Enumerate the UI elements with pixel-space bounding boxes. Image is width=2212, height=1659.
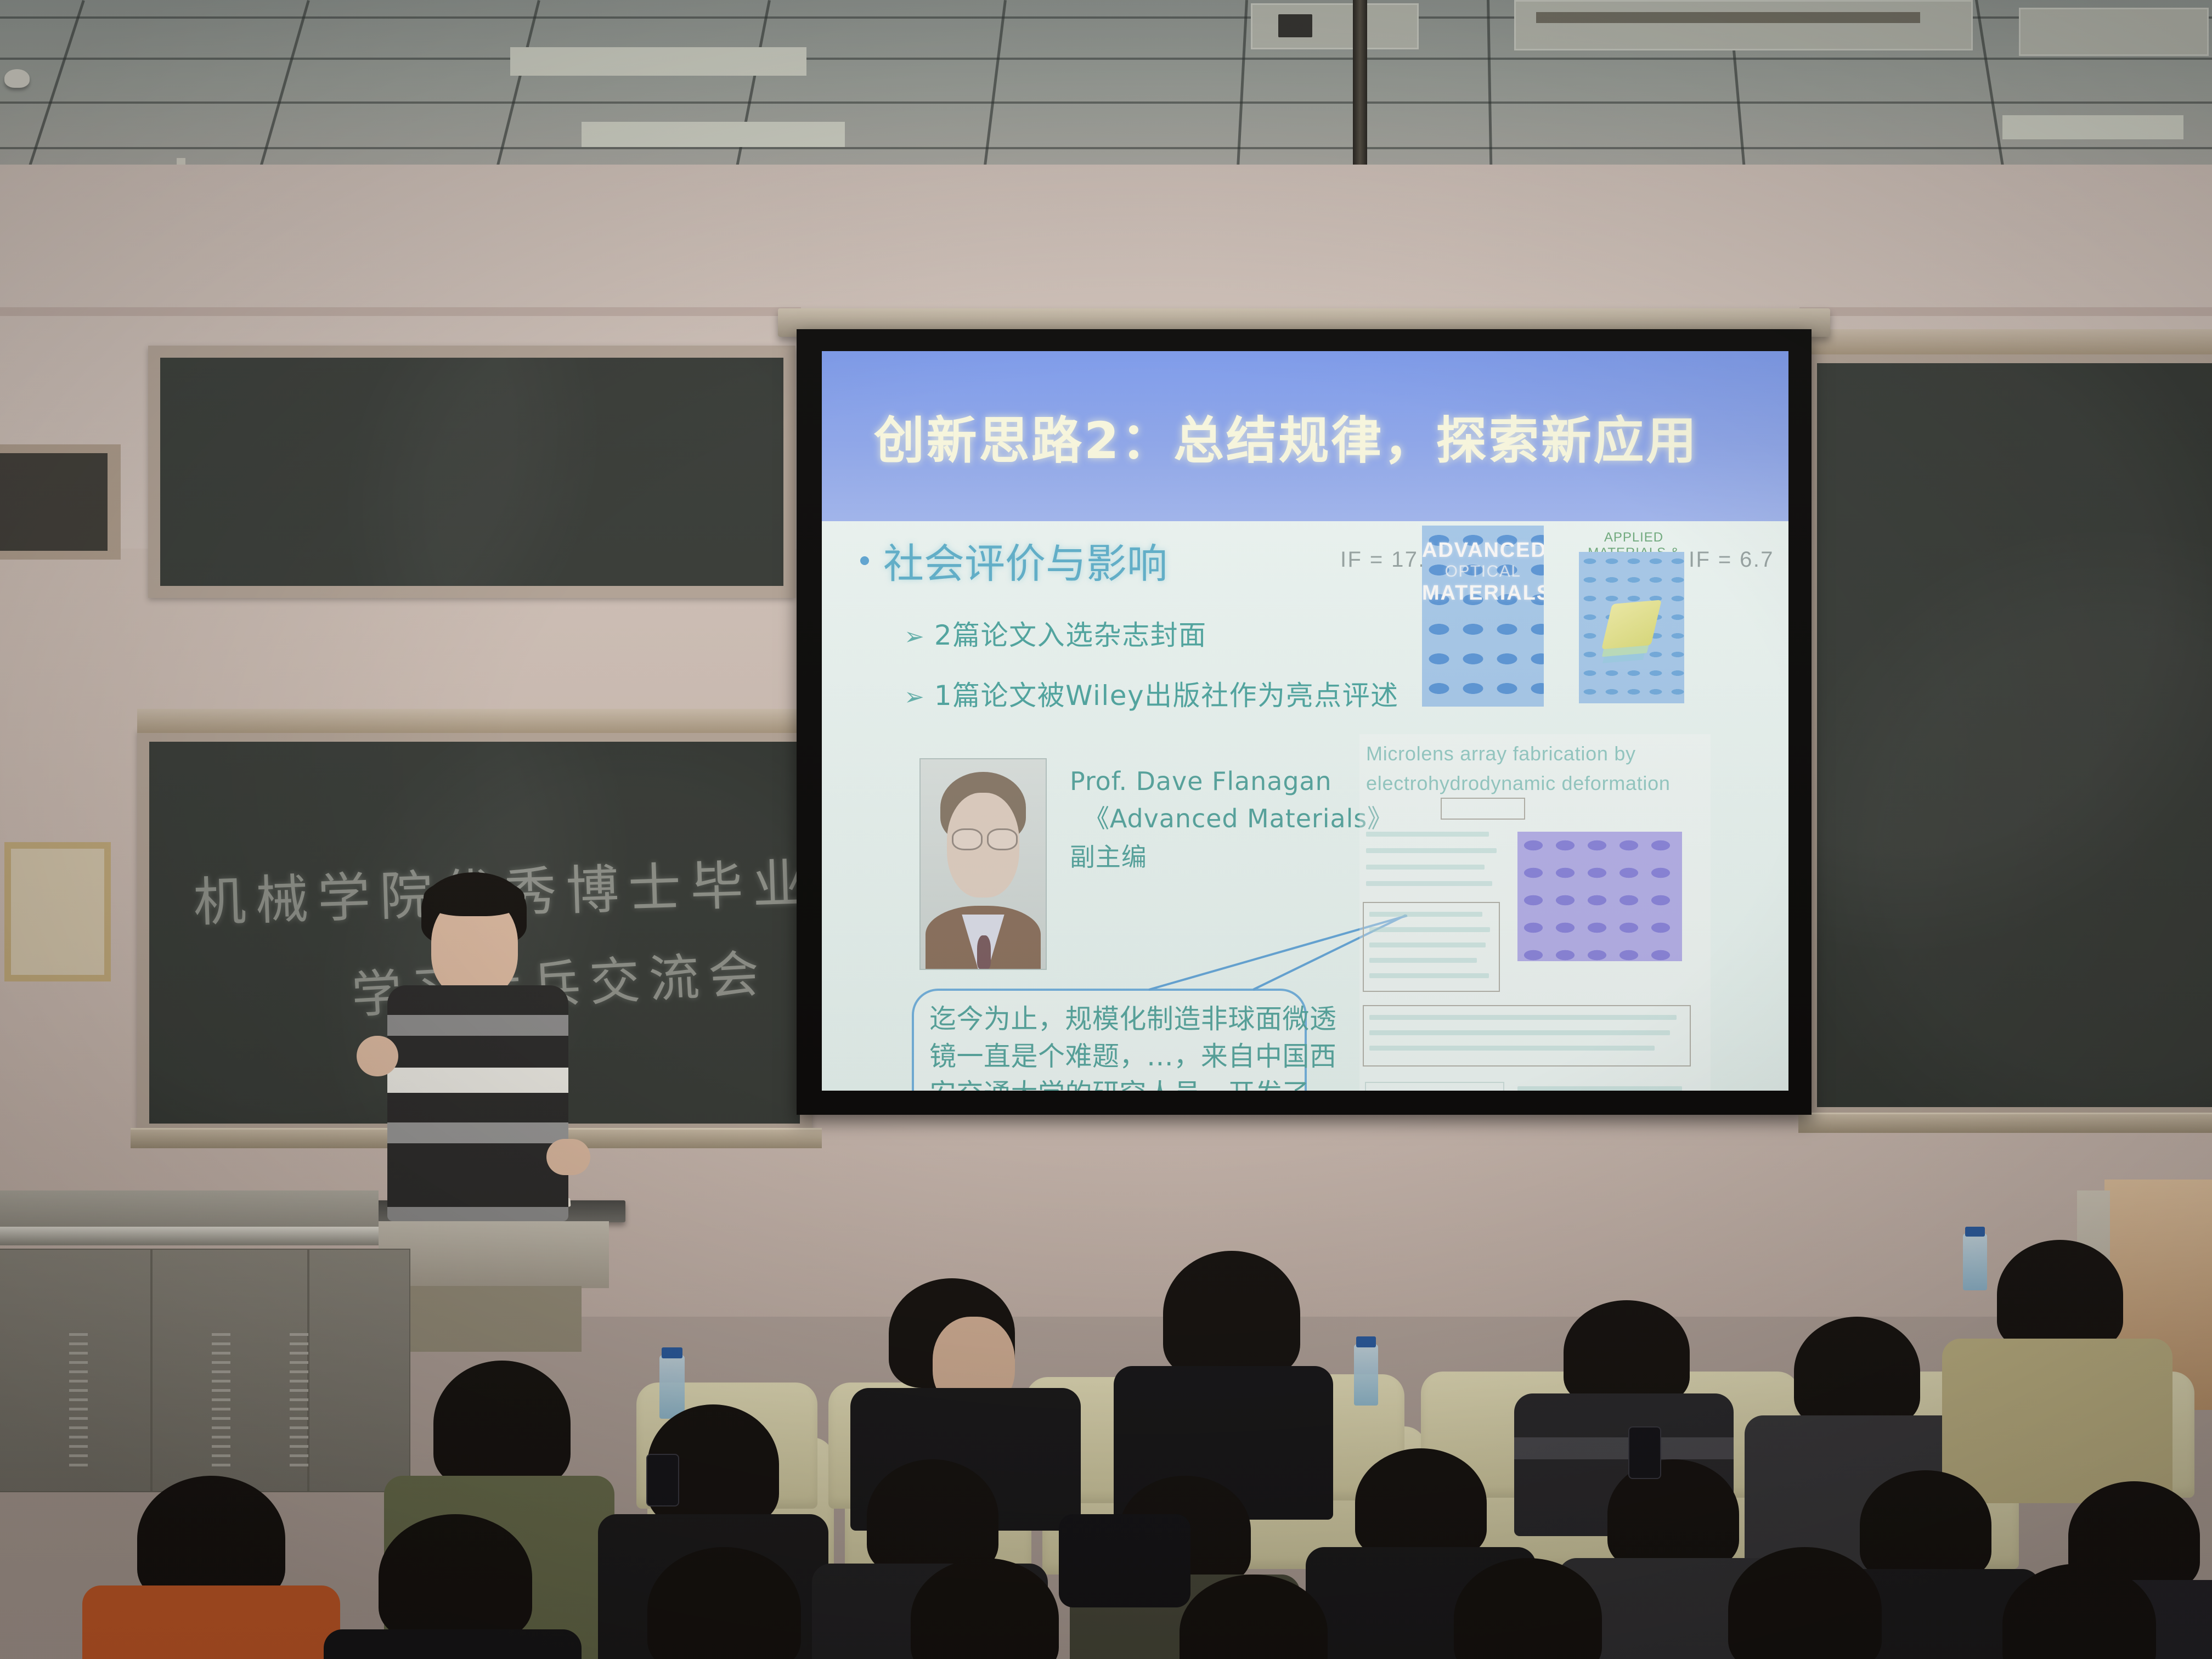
journal-cover-2-header-band: APPLIED MATERIALS & INTERFACES	[1579, 522, 1689, 544]
audience-torso	[82, 1585, 340, 1659]
audience-hair	[1180, 1575, 1328, 1659]
audience-member-front-1	[324, 1514, 582, 1659]
audience-hair	[1454, 1558, 1602, 1659]
audience-hair	[1564, 1300, 1690, 1404]
presenter-sweater	[387, 985, 568, 1221]
slide-sub-bullet-2-label: 1篇论文被Wiley出版社作为亮点评述	[934, 674, 1399, 713]
cover-line-1: ADVANCED	[1422, 540, 1544, 562]
blackboard-top-trim-right	[1794, 329, 2212, 354]
ceiling	[0, 0, 2212, 181]
locker-louver-1	[69, 1333, 88, 1470]
locker-vent-strip	[0, 1227, 379, 1245]
recessed-light-right	[2002, 115, 2183, 139]
audience-hair	[1163, 1251, 1300, 1377]
portrait-glasses-left	[952, 828, 983, 850]
podium-base	[400, 1286, 582, 1352]
editor-role: 副主编	[1070, 838, 1147, 876]
audience-hair	[1794, 1317, 1920, 1426]
ceiling-vent-frame	[1514, 0, 1973, 50]
editor-name: Prof. Dave Flanagan	[1070, 763, 1332, 800]
presenter-right-hand	[546, 1139, 590, 1175]
water-bottle-cap-2	[1356, 1336, 1376, 1347]
recessed-light	[510, 47, 806, 76]
blackboard-panel-upper-left	[160, 358, 783, 586]
arrow-right-icon: ➢	[904, 683, 924, 711]
audience-jacket-stripe	[1514, 1437, 1734, 1459]
locker-top-panel	[0, 1190, 379, 1227]
audience-member-front-orange	[82, 1476, 340, 1659]
audience-hair	[647, 1547, 801, 1659]
audience-hair	[379, 1514, 532, 1640]
slide-sub-bullet-1-label: 2篇论文入选杂志封面	[934, 613, 1207, 653]
audience-member-back-1	[1108, 1251, 1339, 1498]
audience-hair	[137, 1476, 285, 1602]
slide-body: 社会评价与影响 ➢ 2篇论文入选杂志封面 ➢ 1篇论文被Wiley出版社作为亮点…	[822, 521, 1788, 1091]
presentation-slide: 创新思路2：总结规律，探索新应用 社会评价与影响 ➢ 2篇论文入选杂志封面 ➢ …	[822, 351, 1788, 1091]
microlens-array-image	[1517, 832, 1682, 961]
blackboard-top-trim	[137, 709, 812, 733]
water-bottle-cap-1	[662, 1347, 682, 1358]
audience-hair	[2002, 1564, 2156, 1659]
smoke-detector-icon	[4, 69, 30, 88]
projection-screen: 创新思路2：总结规律，探索新应用 社会评价与影响 ➢ 2篇论文入选杂志封面 ➢ …	[822, 351, 1788, 1091]
water-bottle-2	[1354, 1344, 1378, 1406]
quote-line-3: 安交通大学的研究人员，开发了一	[929, 1075, 1336, 1091]
ceiling-air-vent	[1536, 12, 1920, 23]
ceiling-fixture	[1278, 14, 1312, 37]
presenter-fringe	[424, 878, 524, 916]
portrait-glasses-right	[987, 828, 1018, 850]
impact-factor-label-2: IF = 6.7	[1689, 548, 1774, 572]
slide-title-bar: 创新思路2：总结规律，探索新应用	[822, 351, 1788, 521]
smartphone-icon	[646, 1454, 679, 1506]
audience-member-khaki	[1942, 1240, 2172, 1492]
chalk-tray-right	[1798, 1113, 2212, 1133]
ceiling-vent-frame-right	[2019, 8, 2209, 56]
audience-hair	[867, 1459, 998, 1575]
smartphone-icon	[1628, 1426, 1661, 1479]
audience-torso	[324, 1629, 582, 1659]
journal-cover-advanced-optical-materials: ADVANCED OPTICAL MATERIALS	[1422, 526, 1544, 707]
audience-hair	[1728, 1547, 1882, 1659]
audience-member-front-2	[592, 1547, 850, 1659]
quote-line-2: 镜一直是个难题，…，来自中国西	[929, 1038, 1336, 1075]
audience-member-front-5	[1404, 1558, 1651, 1659]
paper-abstract-box	[1363, 1005, 1691, 1066]
arrow-right-icon: ➢	[904, 623, 924, 651]
locker-louver-2	[212, 1333, 230, 1470]
slide-sub-bullet-2: ➢ 1篇论文被Wiley出版社作为亮点评述	[904, 674, 1399, 713]
slide-sub-bullet-1: ➢ 2篇论文入选杂志封面	[904, 613, 1207, 653]
wall-notice-frame	[4, 842, 111, 981]
ceiling-access-panel	[1251, 3, 1419, 49]
wall-molding-right	[1799, 307, 2212, 316]
wall-molding	[0, 307, 801, 316]
water-bottle-cap-3	[1965, 1227, 1985, 1237]
backpack	[1059, 1514, 1190, 1607]
slide-bullet-main-label: 社会评价与影响	[883, 531, 1167, 590]
podium-body	[379, 1221, 609, 1288]
audience-member-front-6	[1679, 1547, 1931, 1659]
audience-member-front-7	[1953, 1564, 2205, 1659]
bullet-dot-icon	[860, 556, 869, 565]
slide-bullet-main: 社会评价与影响	[860, 531, 1167, 590]
editor-journal: 《Advanced Materials》	[1084, 800, 1393, 838]
wall-frame-panel	[0, 453, 108, 551]
cover-line-2: OPTICAL	[1422, 563, 1544, 580]
locker-louver-3	[290, 1333, 308, 1470]
presenter	[351, 872, 603, 1223]
paper-figure-group	[1365, 1082, 1504, 1091]
journal-cover-applied-materials	[1579, 552, 1684, 703]
audience-hair	[1355, 1448, 1487, 1558]
editor-portrait	[919, 758, 1047, 970]
lecture-hall-photo: 机械学院优秀博士毕业生 学习标兵交流会 创新思路2：总结规律，探索新应用 社会评…	[0, 0, 2212, 1659]
slide-title: 创新思路2：总结规律，探索新应用	[874, 400, 1699, 473]
audience-hair	[1997, 1240, 2123, 1350]
blackboard-panel-right	[1817, 363, 2212, 1107]
presenter-left-hand	[357, 1036, 398, 1076]
audience-hair	[911, 1558, 1059, 1659]
quote-line-1: 迄今为止，规模化制造非球面微透	[929, 1001, 1336, 1038]
paper-title-line-2: electrohydrodynamic deformation	[1366, 769, 1671, 798]
paper-author-chip	[1441, 798, 1525, 820]
audience-hair	[433, 1361, 571, 1487]
cover-line-3: MATERIALS	[1422, 583, 1544, 605]
portrait-tie	[977, 935, 991, 969]
paper-title-line-1: Microlens array fabrication by	[1366, 740, 1636, 768]
recessed-light	[582, 122, 845, 147]
